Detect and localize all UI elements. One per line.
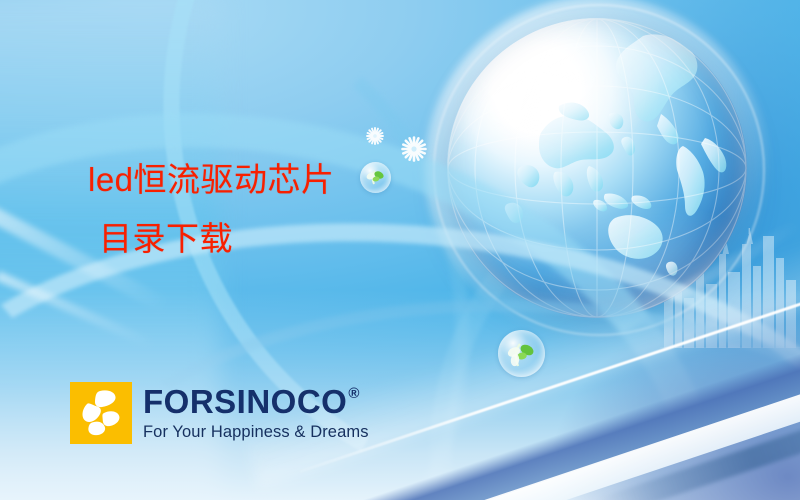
brand-logo: FORSINOCO ® For Your Happiness & Dreams xyxy=(70,382,369,444)
headline-line-1: led恒流驱动芯片 xyxy=(88,163,508,196)
forsinoco-flower-icon xyxy=(70,382,132,444)
sparkle-small-icon xyxy=(366,127,384,150)
slide-canvas: led恒流驱动芯片 目录下载 FORSINOCO ® For Your Happ… xyxy=(0,0,800,500)
bubble-large-leaf xyxy=(498,330,545,377)
registered-trademark-icon: ® xyxy=(348,386,360,401)
brand-wordmark: FORSINOCO ® xyxy=(143,385,369,418)
headline: led恒流驱动芯片 目录下载 xyxy=(88,163,508,255)
brand-logo-text: FORSINOCO ® For Your Happiness & Dreams xyxy=(143,385,369,441)
brand-wordmark-text: FORSINOCO xyxy=(143,385,347,418)
headline-line-2: 目录下载 xyxy=(88,222,508,255)
brand-tagline: For Your Happiness & Dreams xyxy=(143,424,369,441)
